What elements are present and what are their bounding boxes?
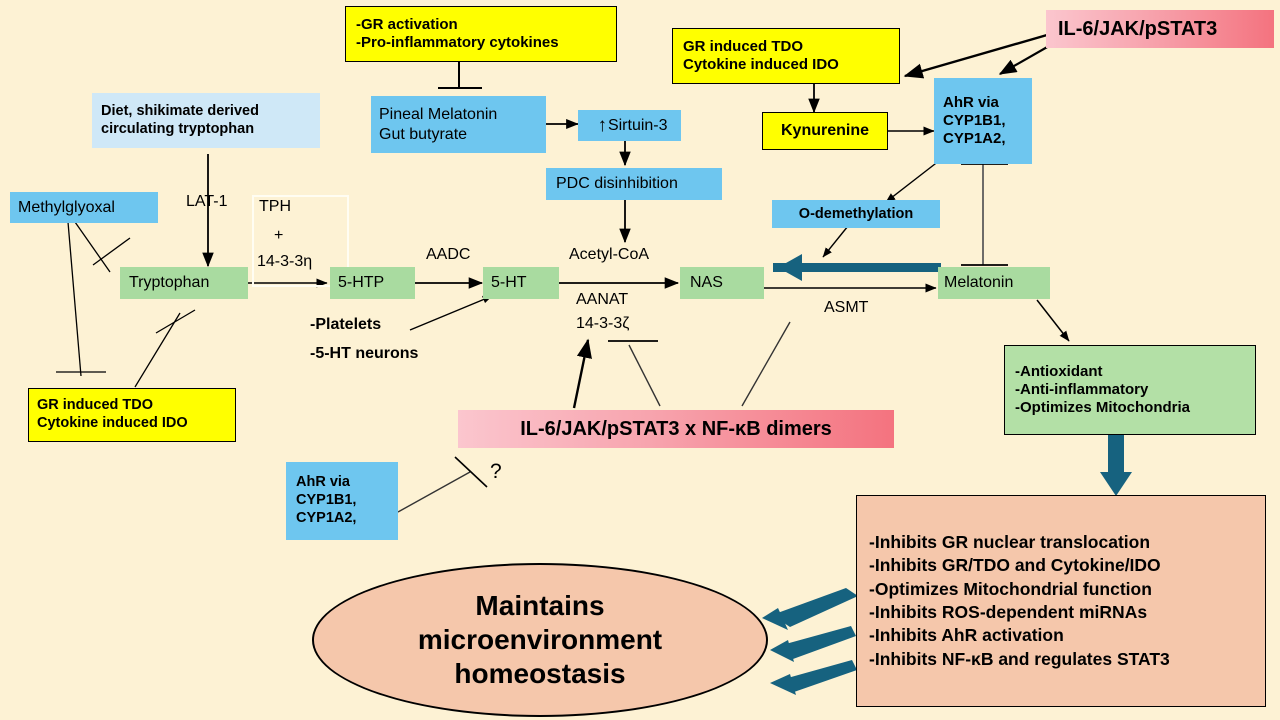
odemethylation-label: O-demethylation: [799, 206, 913, 222]
inhibits-line-4: -Inhibits ROS-dependent miRNAs: [869, 601, 1253, 624]
ahr-bottom-line-2: CYP1B1,: [296, 492, 398, 510]
label-plus: +: [274, 227, 283, 245]
edge-gr-tdo-inhibits-tryptophan: [135, 310, 195, 387]
edge-methylglyoxal-inhibits-gr-tdo: [56, 222, 106, 376]
edge-melatonin-to-antioxidant: [1037, 300, 1069, 341]
edge-gr-activation-inhibits-pineal: [438, 62, 482, 88]
node-tryptophan[interactable]: Tryptophan: [120, 267, 248, 299]
node-pdc-disinhibition[interactable]: PDC disinhibition: [546, 168, 722, 200]
label-5ht-neurons: -5-HT neurons: [310, 345, 418, 363]
diagram-canvas: -GR activation -Pro-inflammatory cytokin…: [0, 0, 1280, 720]
antioxidant-line-3: -Optimizes Mitochondria: [1015, 399, 1245, 417]
edge-il6nfkb-inhibits-aanat: [608, 341, 660, 406]
inhibits-line-5: -Inhibits AhR activation: [869, 624, 1253, 647]
edge-melatonin-to-nas-thick: [773, 254, 941, 281]
edge-ahr-inhibits-melatonin: [961, 164, 1008, 265]
node-gr-induced-tdo-bottom[interactable]: GR induced TDO Cytokine induced IDO: [28, 388, 236, 442]
pineal-line-2: Gut butyrate: [379, 125, 538, 145]
methylglyoxal-label: Methylglyoxal: [18, 199, 158, 217]
diet-line-1: Diet, shikimate derived: [101, 103, 311, 121]
node-pineal-melatonin-gut-butyrate[interactable]: Pineal Melatonin Gut butyrate: [371, 96, 546, 153]
edge-ahr-bottom-inhibits-question: [398, 457, 487, 512]
gr-tdo-top-line-2: Cytokine induced IDO: [683, 56, 889, 74]
kynurenine-label: Kynurenine: [781, 122, 869, 140]
label-asmt: ASMT: [824, 299, 868, 317]
label-aanat: AANAT: [576, 291, 628, 309]
node-diet-tryptophan[interactable]: Diet, shikimate derived circulating tryp…: [92, 93, 320, 148]
edge-antioxidant-to-inhibits: [1100, 435, 1132, 496]
node-sirtuin-3[interactable]: ↑ Sirtuin-3: [578, 110, 681, 141]
edge-il6-top-descender: [1107, 56, 1150, 336]
5ht-label: 5-HT: [491, 274, 559, 292]
sirtuin-up-arrow-icon: ↑: [597, 117, 607, 134]
label-acetyl-coa: Acetyl-CoA: [569, 246, 649, 264]
pdc-label: PDC disinhibition: [556, 175, 722, 193]
ahr-top-line-3: CYP1A2,: [943, 130, 1032, 148]
node-5-ht[interactable]: 5-HT: [483, 267, 559, 299]
inhibits-line-3: -Optimizes Mitochondrial function: [869, 578, 1253, 601]
edge-inhibits-to-ellipse-2: [770, 626, 856, 662]
node-melatonin[interactable]: Melatonin: [938, 267, 1050, 299]
node-il6-nfkb-dimers[interactable]: IL-6/JAK/pSTAT3 x NF-κB dimers: [458, 410, 894, 448]
edge-odemethylation-to-nas: [823, 226, 848, 257]
label-14-3-3-zeta: 14-3-3ζ: [576, 315, 629, 333]
node-maintains-homeostasis[interactable]: Maintains microenvironment homeostasis: [312, 563, 768, 717]
gr-activation-line-1: -GR activation: [356, 16, 606, 34]
gr-tdo-bottom-line-2: Cytokine induced IDO: [37, 415, 227, 433]
node-o-demethylation[interactable]: O-demethylation: [772, 200, 940, 228]
label-tph: TPH: [259, 198, 291, 216]
node-gr-activation[interactable]: -GR activation -Pro-inflammatory cytokin…: [345, 6, 617, 62]
node-gr-induced-tdo-top[interactable]: GR induced TDO Cytokine induced IDO: [672, 28, 900, 84]
edge-il6nfkb-to-aanat: [574, 340, 588, 408]
inhibits-line-6: -Inhibits NF-κB and regulates STAT3: [869, 648, 1253, 671]
pineal-line-1: Pineal Melatonin: [379, 105, 538, 125]
node-melatonin-effects[interactable]: -Antioxidant -Anti-inflammatory -Optimiz…: [1004, 345, 1256, 435]
label-aadc: AADC: [426, 246, 470, 264]
node-ahr-cyp-bottom[interactable]: AhR via CYP1B1, CYP1A2,: [286, 462, 398, 540]
edge-inhibits-to-ellipse-1: [762, 588, 858, 630]
il6-top-label: IL-6/JAK/pSTAT3: [1058, 18, 1274, 41]
edge-platelets-to-5ht: [410, 296, 492, 330]
label-14-3-3-eta: 14-3-3η: [257, 253, 312, 271]
gr-tdo-top-line-1: GR induced TDO: [683, 38, 889, 56]
5htp-label: 5-HTP: [338, 274, 415, 292]
sirtuin-label: Sirtuin-3: [608, 117, 668, 135]
antioxidant-line-1: -Antioxidant: [1015, 363, 1245, 381]
label-lat1: LAT-1: [186, 193, 228, 211]
ellipse-line-2: microenvironment: [418, 623, 662, 657]
inhibits-line-2: -Inhibits GR/TDO and Cytokine/IDO: [869, 554, 1253, 577]
tryptophan-label: Tryptophan: [129, 274, 248, 292]
node-ahr-cyp-top[interactable]: AhR via CYP1B1, CYP1A2,: [934, 78, 1032, 164]
ahr-top-line-2: CYP1B1,: [943, 112, 1032, 130]
node-il6-jak-pstat3-top[interactable]: IL-6/JAK/pSTAT3: [1046, 10, 1274, 48]
edge-methylglyoxal-inhibits-tryptophan: [75, 222, 130, 272]
edge-il6-to-gr-tdo-top: [905, 35, 1047, 76]
gr-activation-line-2: -Pro-inflammatory cytokines: [356, 34, 606, 52]
label-question-mark: ?: [490, 460, 502, 484]
ahr-bottom-line-3: CYP1A2,: [296, 510, 398, 528]
node-nas[interactable]: NAS: [680, 267, 764, 299]
node-melatonin-inhibits-list[interactable]: -Inhibits GR nuclear translocation -Inhi…: [856, 495, 1266, 707]
inhibits-line-1: -Inhibits GR nuclear translocation: [869, 531, 1253, 554]
node-5-htp[interactable]: 5-HTP: [330, 267, 415, 299]
nas-label: NAS: [690, 274, 764, 292]
edge-inhibits-to-ellipse-3: [770, 660, 857, 695]
label-platelets: -Platelets: [310, 316, 381, 334]
ahr-bottom-line-1: AhR via: [296, 474, 398, 492]
il6-nfkb-label: IL-6/JAK/pSTAT3 x NF-κB dimers: [520, 418, 832, 441]
edge-to-il6nfkb-box: [742, 322, 790, 406]
ellipse-line-3: homeostasis: [418, 657, 662, 691]
node-kynurenine[interactable]: Kynurenine: [762, 112, 888, 150]
melatonin-label: Melatonin: [944, 274, 1050, 292]
gr-tdo-bottom-line-1: GR induced TDO: [37, 397, 227, 415]
ellipse-line-1: Maintains: [418, 589, 662, 623]
ahr-top-line-1: AhR via: [943, 94, 1032, 112]
node-methylglyoxal[interactable]: Methylglyoxal: [10, 192, 158, 223]
diet-line-2: circulating tryptophan: [101, 121, 311, 139]
antioxidant-line-2: -Anti-inflammatory: [1015, 381, 1245, 399]
